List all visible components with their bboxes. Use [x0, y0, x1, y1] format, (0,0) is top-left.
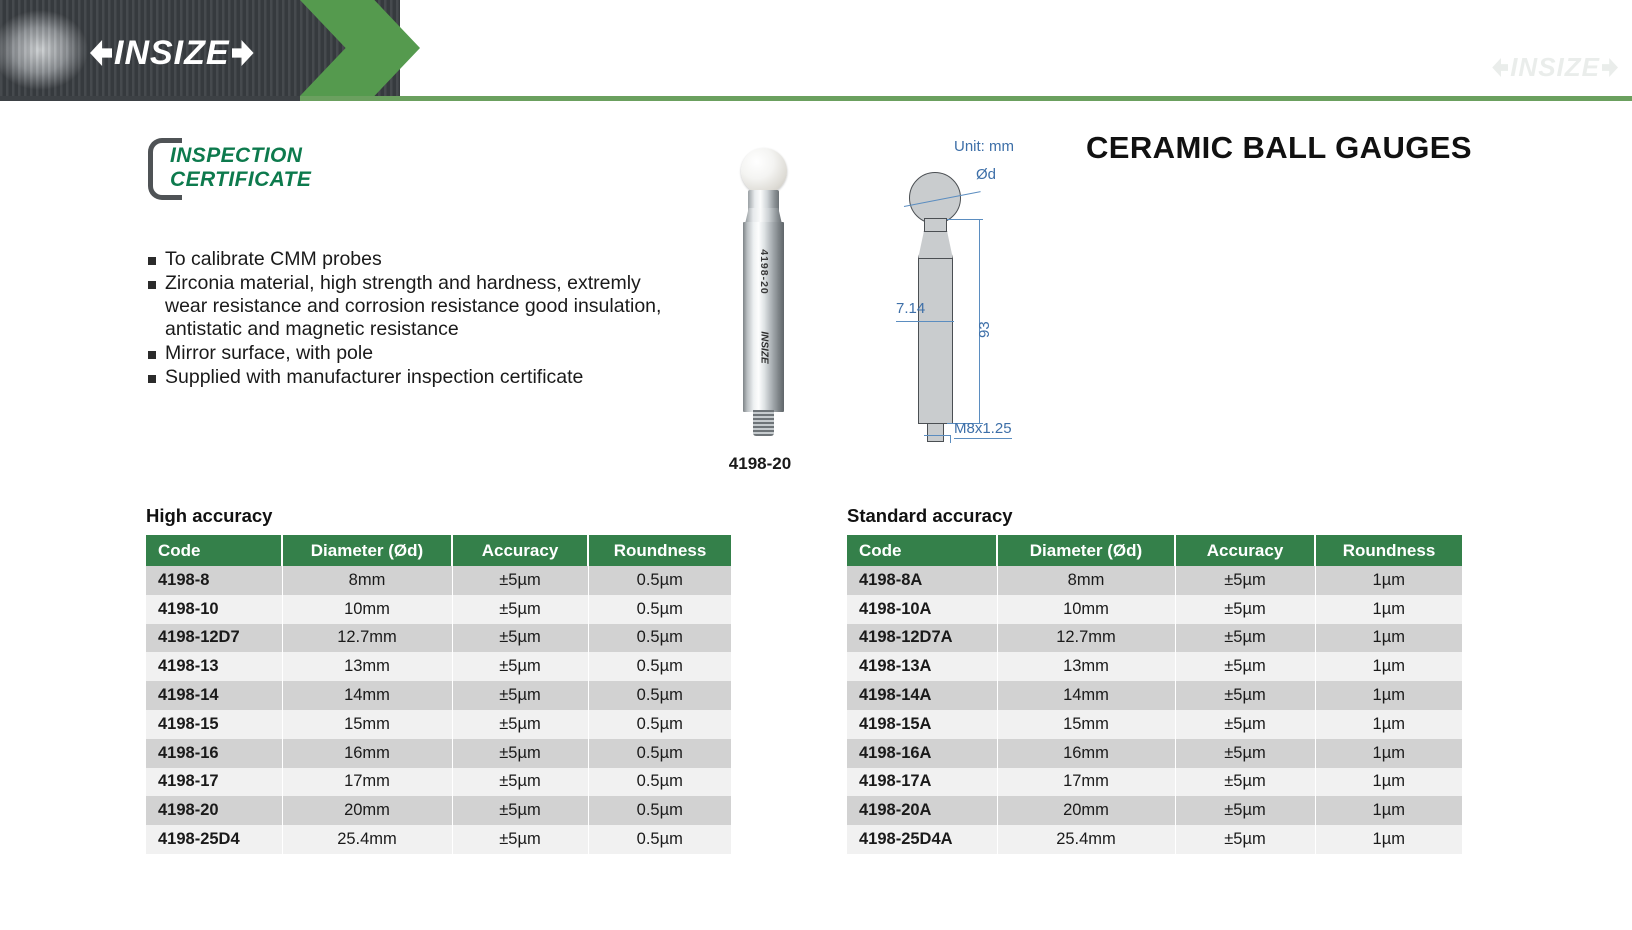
high-accuracy-table: Code Diameter (Ød) Accuracy Roundness 41…	[146, 535, 731, 854]
table-header-row: Code Diameter (Ød) Accuracy Roundness	[847, 535, 1462, 566]
cell-roundness: 1µm	[1315, 595, 1462, 624]
cell-diameter: 15mm	[997, 710, 1175, 739]
shaft-engraved-code: 4198-20	[758, 249, 770, 295]
width-dim-label: 7.14	[896, 300, 925, 317]
cell-accuracy: ±5µm	[1175, 739, 1315, 768]
cell-code: 4198-13	[146, 652, 282, 681]
drawing-thread-stud	[927, 423, 944, 442]
diameter-dim-label: Ød	[976, 166, 996, 183]
table-title: Standard accuracy	[847, 505, 1462, 527]
table-row: 4198-1515mm±5µm0.5µm	[146, 710, 731, 739]
arrow-right-icon	[232, 40, 254, 66]
cell-roundness: 0.5µm	[588, 739, 731, 768]
cell-diameter: 15mm	[282, 710, 452, 739]
cell-code: 4198-8	[146, 566, 282, 595]
bullet-square-icon	[148, 281, 156, 289]
cell-roundness: 1µm	[1315, 739, 1462, 768]
cell-code: 4198-10	[146, 595, 282, 624]
cell-code: 4198-17	[146, 768, 282, 797]
ceramic-ball-photo	[741, 148, 787, 194]
table-row: 4198-20A20mm±5µm1µm	[847, 796, 1462, 825]
page-header: INSIZE INSIZE	[0, 0, 1632, 101]
bullet-square-icon	[148, 257, 156, 265]
insize-watermark-text: INSIZE	[1510, 52, 1600, 83]
cell-accuracy: ±5µm	[1175, 595, 1315, 624]
watermark-arrow-left-icon	[1492, 58, 1508, 77]
cell-code: 4198-13A	[847, 652, 997, 681]
feature-text: Supplied with manufacturer inspection ce…	[165, 366, 583, 389]
column-header-diameter: Diameter (Ød)	[997, 535, 1175, 566]
cell-diameter: 17mm	[997, 768, 1175, 797]
cell-roundness: 0.5µm	[588, 652, 731, 681]
cell-roundness: 1µm	[1315, 710, 1462, 739]
table-row: 4198-1717mm±5µm0.5µm	[146, 768, 731, 797]
table-header-row: Code Diameter (Ød) Accuracy Roundness	[146, 535, 731, 566]
cell-roundness: 1µm	[1315, 681, 1462, 710]
table-row: 4198-1616mm±5µm0.5µm	[146, 739, 731, 768]
standard-accuracy-table-block: Standard accuracy Code Diameter (Ød) Acc…	[847, 505, 1462, 854]
cell-code: 4198-16A	[847, 739, 997, 768]
feature-list: To calibrate CMM probes Zirconia materia…	[148, 248, 668, 390]
table-row: 4198-15A15mm±5µm1µm	[847, 710, 1462, 739]
cell-accuracy: ±5µm	[452, 739, 588, 768]
cell-diameter: 16mm	[282, 739, 452, 768]
cell-roundness: 0.5µm	[588, 710, 731, 739]
cell-roundness: 1µm	[1315, 796, 1462, 825]
cell-code: 4198-25D4A	[847, 825, 997, 854]
unit-label: Unit: mm	[954, 138, 1014, 155]
cell-code: 4198-12D7A	[847, 624, 997, 653]
thread-dim-label: M8x1.25	[954, 420, 1012, 439]
bullet-square-icon	[148, 351, 156, 359]
table-row: 4198-1313mm±5µm0.5µm	[146, 652, 731, 681]
thread-dimension-line	[924, 435, 950, 436]
cell-accuracy: ±5µm	[452, 624, 588, 653]
cell-diameter: 12.7mm	[282, 624, 452, 653]
cell-code: 4198-17A	[847, 768, 997, 797]
inspection-certificate-logo: INSPECTION CERTIFICATE	[148, 138, 408, 202]
feature-text: Mirror surface, with pole	[165, 342, 373, 365]
table-row: 4198-88mm±5µm0.5µm	[146, 566, 731, 595]
cell-roundness: 0.5µm	[588, 624, 731, 653]
cell-accuracy: ±5µm	[452, 595, 588, 624]
table-row: 4198-17A17mm±5µm1µm	[847, 768, 1462, 797]
table-row: 4198-12D7A12.7mm±5µm1µm	[847, 624, 1462, 653]
table-title: High accuracy	[146, 505, 731, 527]
column-header-diameter: Diameter (Ød)	[282, 535, 452, 566]
arrow-left-icon	[90, 40, 112, 66]
table-row: 4198-16A16mm±5µm1µm	[847, 739, 1462, 768]
length-extension-top	[947, 219, 983, 220]
cell-diameter: 13mm	[282, 652, 452, 681]
table-row: 4198-13A13mm±5µm1µm	[847, 652, 1462, 681]
cell-code: 4198-20	[146, 796, 282, 825]
cell-code: 4198-20A	[847, 796, 997, 825]
cell-accuracy: ±5µm	[1175, 710, 1315, 739]
cell-code: 4198-25D4	[146, 825, 282, 854]
insize-watermark-logo: INSIZE	[1492, 52, 1618, 83]
insize-logo: INSIZE	[90, 33, 254, 73]
cell-roundness: 1µm	[1315, 825, 1462, 854]
column-header-roundness: Roundness	[588, 535, 731, 566]
cell-accuracy: ±5µm	[452, 710, 588, 739]
cell-diameter: 17mm	[282, 768, 452, 797]
column-header-accuracy: Accuracy	[452, 535, 588, 566]
table-row: 4198-25D425.4mm±5µm0.5µm	[146, 825, 731, 854]
column-header-accuracy: Accuracy	[1175, 535, 1315, 566]
cell-roundness: 0.5µm	[588, 595, 731, 624]
cell-code: 4198-14	[146, 681, 282, 710]
drawing-shaft	[918, 258, 953, 424]
cell-roundness: 1µm	[1315, 652, 1462, 681]
drawing-collar	[924, 218, 947, 232]
cell-diameter: 20mm	[282, 796, 452, 825]
product-photo: 4198-20 INSIZE	[712, 148, 808, 448]
cell-accuracy: ±5µm	[1175, 825, 1315, 854]
cell-accuracy: ±5µm	[1175, 796, 1315, 825]
table-row: 4198-1010mm±5µm0.5µm	[146, 595, 731, 624]
table-row: 4198-12D712.7mm±5µm0.5µm	[146, 624, 731, 653]
table-body: 4198-8A8mm±5µm1µm 4198-10A10mm±5µm1µm 41…	[847, 566, 1462, 854]
high-accuracy-table-block: High accuracy Code Diameter (Ød) Accurac…	[146, 505, 731, 854]
cell-code: 4198-8A	[847, 566, 997, 595]
cell-code: 4198-16	[146, 739, 282, 768]
insize-logo-text: INSIZE	[114, 34, 230, 73]
cell-accuracy: ±5µm	[452, 566, 588, 595]
cell-diameter: 16mm	[997, 739, 1175, 768]
drawing-ball	[909, 172, 961, 224]
cell-accuracy: ±5µm	[1175, 566, 1315, 595]
cell-accuracy: ±5µm	[452, 681, 588, 710]
watermark-arrow-right-icon	[1602, 58, 1618, 77]
cell-diameter: 25.4mm	[997, 825, 1175, 854]
table-body: 4198-88mm±5µm0.5µm 4198-1010mm±5µm0.5µm …	[146, 566, 731, 854]
length-dim-label: 93	[976, 321, 993, 338]
cell-accuracy: ±5µm	[452, 652, 588, 681]
thread-leader-line	[950, 435, 951, 443]
table-row: 4198-14A14mm±5µm1µm	[847, 681, 1462, 710]
drawing-taper	[918, 231, 953, 259]
list-item: To calibrate CMM probes	[148, 248, 668, 271]
cell-roundness: 1µm	[1315, 768, 1462, 797]
cell-roundness: 0.5µm	[588, 768, 731, 797]
width-dimension-line	[896, 321, 954, 322]
cell-accuracy: ±5µm	[1175, 681, 1315, 710]
feature-text: Zirconia material, high strength and har…	[165, 272, 668, 341]
list-item: Supplied with manufacturer inspection ce…	[148, 366, 668, 389]
cell-diameter: 25.4mm	[282, 825, 452, 854]
threaded-stud-photo	[753, 410, 774, 436]
cell-diameter: 8mm	[997, 566, 1175, 595]
cell-roundness: 1µm	[1315, 624, 1462, 653]
cell-diameter: 20mm	[997, 796, 1175, 825]
cell-roundness: 0.5µm	[588, 825, 731, 854]
table-row: 4198-2020mm±5µm0.5µm	[146, 796, 731, 825]
cell-diameter: 8mm	[282, 566, 452, 595]
shaft-photo: 4198-20 INSIZE	[743, 222, 784, 412]
page-title: CERAMIC BALL GAUGES	[1086, 130, 1472, 166]
product-photo-caption: 4198-20	[700, 454, 820, 474]
column-header-roundness: Roundness	[1315, 535, 1462, 566]
cell-code: 4198-15A	[847, 710, 997, 739]
cell-diameter: 10mm	[282, 595, 452, 624]
standard-accuracy-table: Code Diameter (Ød) Accuracy Roundness 41…	[847, 535, 1462, 854]
cell-diameter: 13mm	[997, 652, 1175, 681]
certificate-line-1: INSPECTION	[170, 144, 311, 168]
certificate-text-group: INSPECTION CERTIFICATE	[170, 144, 311, 192]
list-item: Zirconia material, high strength and har…	[148, 272, 668, 341]
technical-drawing: Unit: mm Ød 93 7.14 M8x1.25	[880, 130, 1080, 450]
cell-roundness: 0.5µm	[588, 796, 731, 825]
cell-diameter: 14mm	[282, 681, 452, 710]
table-row: 4198-10A10mm±5µm1µm	[847, 595, 1462, 624]
cell-accuracy: ±5µm	[452, 825, 588, 854]
cell-code: 4198-12D7	[146, 624, 282, 653]
cell-accuracy: ±5µm	[1175, 624, 1315, 653]
column-header-code: Code	[847, 535, 997, 566]
bullet-square-icon	[148, 375, 156, 383]
header-dark-rule	[0, 96, 300, 101]
table-row: 4198-8A8mm±5µm1µm	[847, 566, 1462, 595]
feature-text: To calibrate CMM probes	[165, 248, 382, 271]
list-item: Mirror surface, with pole	[148, 342, 668, 365]
cell-accuracy: ±5µm	[452, 768, 588, 797]
cell-code: 4198-14A	[847, 681, 997, 710]
cell-accuracy: ±5µm	[1175, 768, 1315, 797]
cell-roundness: 0.5µm	[588, 681, 731, 710]
cell-diameter: 12.7mm	[997, 624, 1175, 653]
cell-accuracy: ±5µm	[452, 796, 588, 825]
cell-diameter: 10mm	[997, 595, 1175, 624]
table-row: 4198-1414mm±5µm0.5µm	[146, 681, 731, 710]
column-header-code: Code	[146, 535, 282, 566]
cell-roundness: 0.5µm	[588, 566, 731, 595]
cell-code: 4198-10A	[847, 595, 997, 624]
shaft-engraved-brand: INSIZE	[758, 331, 769, 363]
cell-diameter: 14mm	[997, 681, 1175, 710]
certificate-line-2: CERTIFICATE	[170, 168, 311, 192]
cell-roundness: 1µm	[1315, 566, 1462, 595]
cell-code: 4198-15	[146, 710, 282, 739]
cell-accuracy: ±5µm	[1175, 652, 1315, 681]
table-row: 4198-25D4A25.4mm±5µm1µm	[847, 825, 1462, 854]
